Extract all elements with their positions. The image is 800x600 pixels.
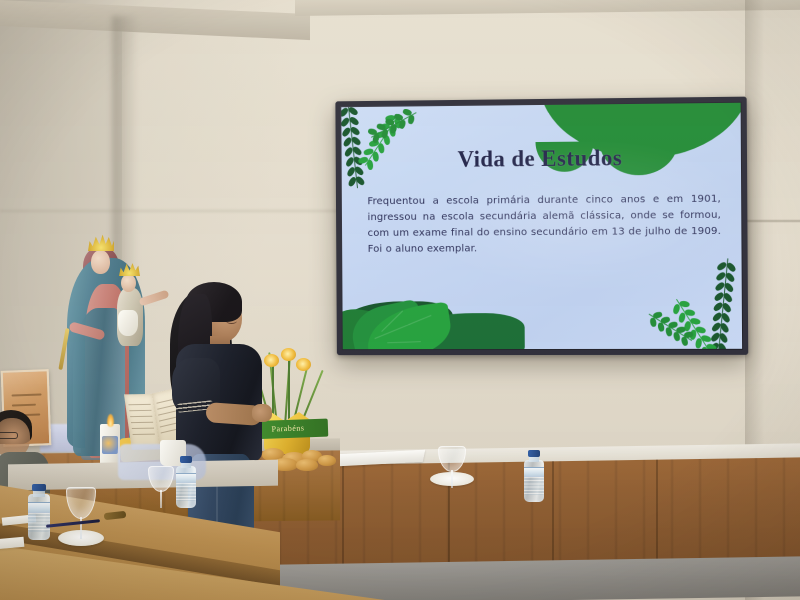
flower-head-icon [296, 358, 311, 371]
bottle-cap [180, 456, 193, 463]
bottle-cap [528, 450, 541, 457]
bread-item [296, 459, 318, 471]
crown-icon [88, 234, 114, 251]
bottle-ribs [176, 483, 196, 501]
glasses-icon [0, 432, 18, 439]
wall-panel-line-left [0, 210, 340, 212]
wall-panel-line [745, 220, 800, 222]
fern-leaflet-icon [381, 129, 389, 139]
bottle-label [28, 502, 50, 513]
water-bottle[interactable] [28, 484, 50, 540]
fern-leaflet-icon [399, 119, 407, 129]
statue-head [91, 250, 110, 274]
child-figure-arm [138, 290, 169, 307]
glass-bowl [66, 487, 96, 519]
candle-label [102, 436, 118, 454]
water-bottle[interactable] [176, 456, 196, 508]
flame-icon [107, 414, 114, 427]
bottle-label [176, 473, 196, 483]
glass-bowl [438, 446, 466, 472]
fern-leaflet-icon [408, 115, 415, 125]
wall-mounted-television[interactable]: Vida de Estudos Frequentou a escola prim… [335, 97, 748, 356]
glass-bowl [148, 466, 174, 492]
wine-glass-inverted[interactable] [438, 446, 466, 488]
bottle-ribs [524, 477, 544, 495]
fern-leaflet-icon [372, 133, 380, 143]
slide-body-text: Frequentou a escola primária durante cin… [367, 191, 721, 257]
glass-stem [451, 470, 453, 488]
child-figure-head [121, 274, 136, 292]
fern-leaflet-icon [684, 331, 694, 338]
bottle-label [524, 467, 544, 477]
flower-head-icon [281, 348, 296, 361]
wine-glass-inverted[interactable] [148, 466, 174, 508]
fern-leaflet-icon [390, 124, 398, 134]
bottle-cap [32, 484, 46, 491]
slide-title: Vida de Estudos [342, 145, 741, 175]
presentation-room-photo: Vida de Estudos Frequentou a escola prim… [0, 0, 800, 600]
glass-stem [160, 490, 162, 508]
water-bottle[interactable] [524, 450, 544, 502]
bottle-ribs [28, 513, 50, 532]
bread-item [318, 455, 336, 466]
presenter-hand [252, 404, 272, 422]
child-figure-cloth [118, 310, 138, 336]
fern-leaflet-icon [706, 343, 717, 349]
presentation-slide: Vida de Estudos Frequentou a escola prim… [341, 103, 742, 349]
wine-glass-inverted[interactable] [66, 487, 96, 539]
lit-candle [100, 424, 120, 466]
